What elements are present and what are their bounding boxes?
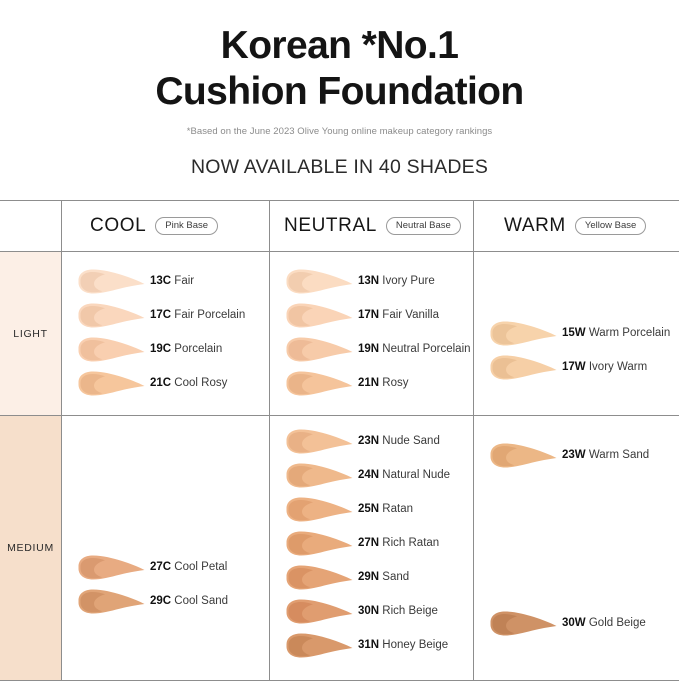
shade-list-medium-warm: 23W Warm Sand30W Gold Beige (474, 416, 679, 640)
shade-swatch-icon (486, 442, 558, 469)
shade-code: 29N (358, 571, 379, 583)
column-badge-cool: Pink Base (155, 217, 218, 236)
chart-row-medium: MEDIUM 27C Cool Petal29C Cool Sand 23N N… (0, 416, 679, 681)
shade-label: 25N Ratan (358, 503, 413, 515)
column-badge-neutral: Neutral Base (386, 217, 461, 236)
shade-item[interactable]: 30N Rich Beige (270, 594, 473, 628)
shade-item[interactable]: 19N Neutral Porcelain (270, 332, 473, 366)
shade-item[interactable]: 17N Fair Vanilla (270, 298, 473, 332)
shade-swatch-icon (282, 370, 354, 397)
shade-list-light-warm: 15W Warm Porcelain17W Ivory Warm (474, 252, 679, 384)
shade-label: 15W Warm Porcelain (562, 327, 670, 339)
column-name-neutral: NEUTRAL (284, 215, 377, 237)
shade-code: 21C (150, 377, 171, 389)
shade-swatch-icon (282, 428, 354, 455)
shade-swatch-icon (74, 370, 146, 397)
shade-spacer (474, 472, 679, 606)
shade-item[interactable]: 25N Ratan (270, 492, 473, 526)
shade-name: Cool Rosy (171, 377, 227, 389)
shade-item[interactable]: 19C Porcelain (62, 332, 269, 366)
row-label-medium: MEDIUM (0, 416, 62, 680)
shade-item[interactable]: 17C Fair Porcelain (62, 298, 269, 332)
row-label-medium-text: MEDIUM (0, 542, 61, 554)
shade-swatch-icon (282, 564, 354, 591)
page-title-line-1: Korean *No.1 (0, 22, 679, 70)
column-header-warm: WARM Yellow Base (474, 201, 679, 251)
shade-label: 23N Nude Sand (358, 435, 440, 447)
shade-list-light-neutral: 13N Ivory Pure17N Fair Vanilla19N Neutra… (270, 252, 473, 400)
chart-row-light: LIGHT 13C Fair17C Fair Porcelain19C Porc… (0, 252, 679, 416)
shade-list-medium-cool: 27C Cool Petal29C Cool Sand (62, 416, 269, 618)
shade-code: 25N (358, 503, 379, 515)
shade-name: Cool Petal (171, 561, 227, 573)
shade-label: 29N Sand (358, 571, 409, 583)
shade-swatch-icon (74, 268, 146, 295)
shade-swatch-icon (486, 610, 558, 637)
shade-name: Sand (379, 571, 409, 583)
title-footnote: *Based on the June 2023 Olive Young onli… (0, 126, 679, 137)
shade-name: Natural Nude (379, 469, 450, 481)
shade-swatch-icon (74, 554, 146, 581)
shade-swatch-icon (282, 302, 354, 329)
shade-code: 27N (358, 537, 379, 549)
shade-name: Porcelain (171, 343, 222, 355)
column-name-warm: WARM (504, 215, 566, 237)
shade-name: Warm Porcelain (586, 327, 671, 339)
subheadline: NOW AVAILABLE IN 40 SHADES (0, 156, 679, 179)
shade-label: 19N Neutral Porcelain (358, 343, 471, 355)
shade-code: 19C (150, 343, 171, 355)
shade-label: 24N Natural Nude (358, 469, 450, 481)
cell-light-cool: 13C Fair17C Fair Porcelain19C Porcelain2… (62, 252, 270, 415)
shade-name: Cool Sand (171, 595, 228, 607)
shade-label: 19C Porcelain (150, 343, 222, 355)
shade-item[interactable]: 27N Rich Ratan (270, 526, 473, 560)
page-title-line-2: Cushion Foundation (0, 68, 679, 116)
corner-cell (0, 201, 62, 251)
shade-name: Ratan (379, 503, 413, 515)
shade-code: 27C (150, 561, 171, 573)
shade-label: 13C Fair (150, 275, 194, 287)
shade-code: 19N (358, 343, 379, 355)
shade-name: Fair Porcelain (171, 309, 245, 321)
shade-label: 30N Rich Beige (358, 605, 438, 617)
shade-item[interactable]: 13N Ivory Pure (270, 264, 473, 298)
shade-code: 17C (150, 309, 171, 321)
shade-name: Ivory Pure (379, 275, 435, 287)
column-header-cool: COOL Pink Base (62, 201, 270, 251)
shade-swatch-icon (282, 530, 354, 557)
shade-item[interactable]: 30W Gold Beige (474, 606, 679, 640)
shade-label: 27N Rich Ratan (358, 537, 439, 549)
shade-code: 30W (562, 617, 586, 629)
cell-medium-neutral: 23N Nude Sand24N Natural Nude25N Ratan27… (270, 416, 474, 680)
shade-swatch-icon (282, 462, 354, 489)
shade-list-medium-neutral: 23N Nude Sand24N Natural Nude25N Ratan27… (270, 416, 473, 662)
shade-item[interactable]: 15W Warm Porcelain (474, 316, 679, 350)
shade-name: Fair Vanilla (379, 309, 439, 321)
shade-label: 23W Warm Sand (562, 449, 649, 461)
shade-name: Nude Sand (379, 435, 440, 447)
shade-code: 17N (358, 309, 379, 321)
shade-item[interactable]: 24N Natural Nude (270, 458, 473, 492)
shade-label: 17C Fair Porcelain (150, 309, 245, 321)
shade-swatch-icon (74, 302, 146, 329)
shade-name: Rich Ratan (379, 537, 439, 549)
cell-light-warm: 15W Warm Porcelain17W Ivory Warm (474, 252, 679, 415)
shade-name: Gold Beige (586, 617, 646, 629)
shade-swatch-icon (486, 320, 558, 347)
shade-item[interactable]: 23W Warm Sand (474, 438, 679, 472)
shade-swatch-icon (282, 268, 354, 295)
shade-code: 13C (150, 275, 171, 287)
shade-item[interactable]: 27C Cool Petal (62, 550, 269, 584)
shade-name: Rich Beige (379, 605, 438, 617)
shade-item[interactable]: 31N Honey Beige (270, 628, 473, 662)
shade-name: Honey Beige (379, 639, 448, 651)
shade-swatch-icon (282, 598, 354, 625)
row-label-light: LIGHT (0, 252, 62, 415)
shade-item[interactable]: 23N Nude Sand (270, 424, 473, 458)
shade-item[interactable]: 17W Ivory Warm (474, 350, 679, 384)
page-header: Korean *No.1 Cushion Foundation *Based o… (0, 0, 679, 179)
shade-code: 23N (358, 435, 379, 447)
shade-code: 31N (358, 639, 379, 651)
shade-code: 21N (358, 377, 379, 389)
row-label-light-text: LIGHT (0, 328, 61, 340)
shade-code: 13N (358, 275, 379, 287)
shade-swatch-icon (74, 588, 146, 615)
shade-label: 27C Cool Petal (150, 561, 227, 573)
cell-medium-warm: 23W Warm Sand30W Gold Beige (474, 416, 679, 680)
shade-code: 29C (150, 595, 171, 607)
shade-label: 17N Fair Vanilla (358, 309, 439, 321)
shade-swatch-icon (74, 336, 146, 363)
column-name-cool: COOL (90, 215, 146, 237)
shade-name: Rosy (379, 377, 408, 389)
shade-item[interactable]: 13C Fair (62, 264, 269, 298)
shade-label: 21C Cool Rosy (150, 377, 227, 389)
shade-list-light-cool: 13C Fair17C Fair Porcelain19C Porcelain2… (62, 252, 269, 400)
shade-label: 17W Ivory Warm (562, 361, 647, 373)
shade-swatch-icon (282, 496, 354, 523)
shade-chart: COOL Pink Base NEUTRAL Neutral Base WARM… (0, 200, 679, 679)
column-badge-warm: Yellow Base (575, 217, 646, 236)
chart-header-row: COOL Pink Base NEUTRAL Neutral Base WARM… (0, 201, 679, 252)
shade-item[interactable]: 21C Cool Rosy (62, 366, 269, 400)
shade-name: Ivory Warm (586, 361, 648, 373)
shade-code: 17W (562, 361, 586, 373)
shade-code: 23W (562, 449, 586, 461)
cell-light-neutral: 13N Ivory Pure17N Fair Vanilla19N Neutra… (270, 252, 474, 415)
shade-label: 21N Rosy (358, 377, 409, 389)
shade-item[interactable]: 21N Rosy (270, 366, 473, 400)
shade-swatch-icon (486, 354, 558, 381)
shade-swatch-icon (282, 336, 354, 363)
shade-item[interactable]: 29N Sand (270, 560, 473, 594)
shade-label: 29C Cool Sand (150, 595, 228, 607)
shade-label: 30W Gold Beige (562, 617, 646, 629)
shade-name: Neutral Porcelain (379, 343, 470, 355)
shade-code: 30N (358, 605, 379, 617)
shade-label: 13N Ivory Pure (358, 275, 435, 287)
shade-swatch-icon (282, 632, 354, 659)
shade-label: 31N Honey Beige (358, 639, 448, 651)
shade-code: 15W (562, 327, 586, 339)
cell-medium-cool: 27C Cool Petal29C Cool Sand (62, 416, 270, 680)
shade-name: Fair (171, 275, 194, 287)
column-header-neutral: NEUTRAL Neutral Base (270, 201, 474, 251)
shade-item[interactable]: 29C Cool Sand (62, 584, 269, 618)
shade-code: 24N (358, 469, 379, 481)
shade-name: Warm Sand (586, 449, 649, 461)
